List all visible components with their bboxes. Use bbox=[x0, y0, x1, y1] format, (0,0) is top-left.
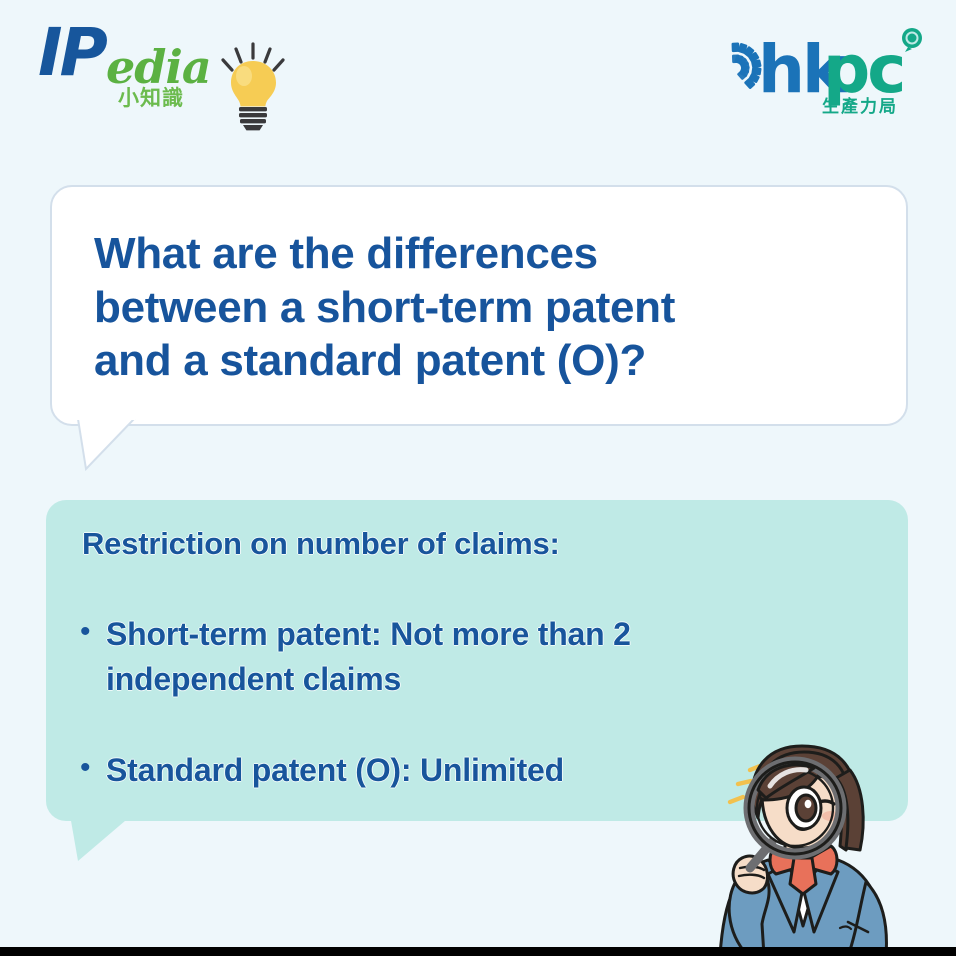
question-speech-bubble: What are the differences between a short… bbox=[50, 185, 908, 426]
svg-text:生產力局: 生產力局 bbox=[822, 96, 898, 116]
answer-bullet-item: • Short-term patent: Not more than 2 ind… bbox=[80, 612, 884, 703]
answer-bubble-tail bbox=[70, 815, 134, 863]
ipedia-logo-chinese-text: 小知識 bbox=[118, 88, 184, 109]
bullet-dot-icon: • bbox=[80, 748, 106, 786]
ipedia-logo: IP edia 小知識 bbox=[38, 18, 308, 118]
answer-bullet-text: Short-term patent: Not more than 2 indep… bbox=[106, 612, 631, 703]
bullet-dot-icon: • bbox=[80, 612, 106, 650]
lightbulb-icon bbox=[206, 40, 302, 132]
question-text: What are the differences between a short… bbox=[94, 227, 876, 388]
ipedia-logo-ip-text: IP bbox=[38, 20, 105, 86]
girl-with-magnifier-illustration bbox=[690, 742, 956, 956]
ipedia-logo-edia-text: edia bbox=[106, 44, 211, 90]
bottom-letterbox-bar bbox=[0, 947, 956, 956]
question-bubble-tail bbox=[76, 419, 136, 471]
hkpc-logo: hk pc 生產力局 bbox=[698, 20, 928, 116]
infographic-canvas: IP edia 小知識 bbox=[0, 0, 956, 956]
answer-heading: Restriction on number of claims: bbox=[82, 526, 560, 562]
answer-bullet-text: Standard patent (O): Unlimited bbox=[106, 748, 564, 793]
